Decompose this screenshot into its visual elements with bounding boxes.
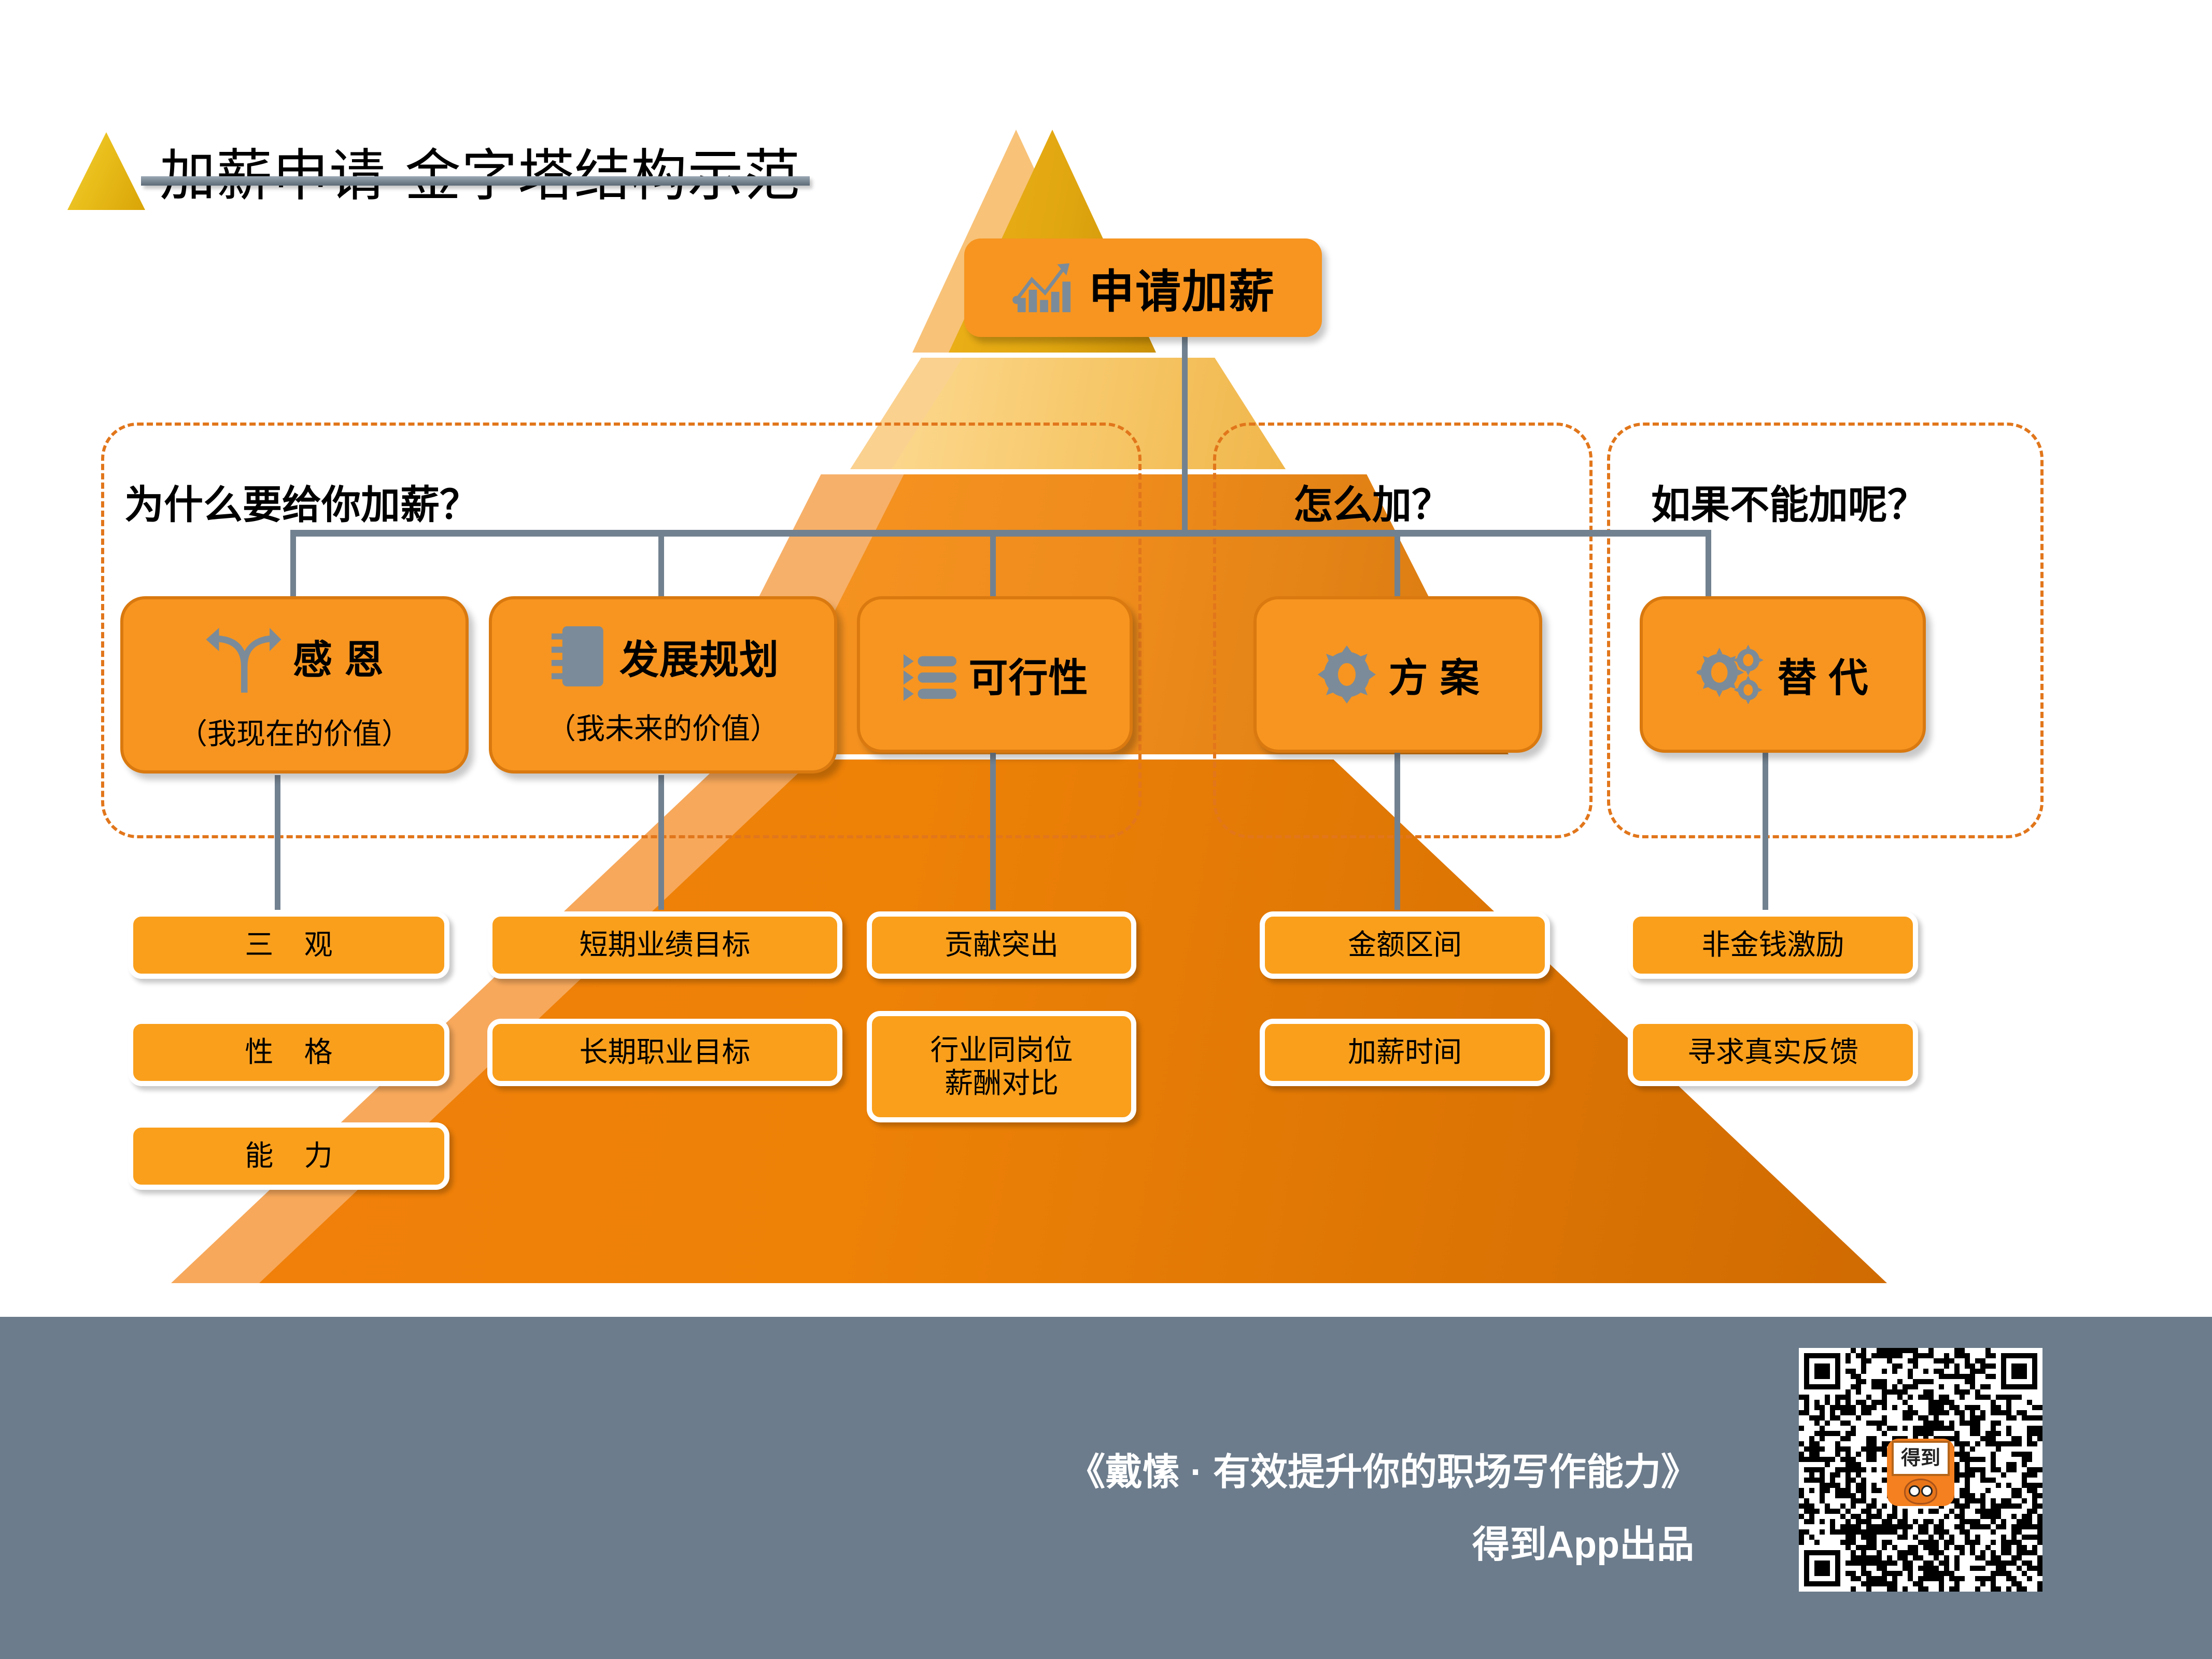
qr-center-logo: 得到 (1887, 1439, 1954, 1506)
leaf-item[interactable]: 三 观 (128, 911, 449, 979)
notebook-icon (547, 623, 609, 690)
connector-leaf-3 (990, 741, 996, 910)
apex-card-label: 申请加薪 (1089, 255, 1275, 321)
connector-horizontal-bus (290, 530, 1711, 537)
leaf-item[interactable]: 贡献突出 (867, 911, 1136, 979)
group-label-how: 怎么加？ (1293, 473, 1451, 530)
gear-icon (1316, 643, 1378, 706)
leaf-item[interactable]: 金额区间 (1260, 911, 1550, 979)
title-underline (141, 176, 810, 186)
connector-drop-1 (290, 530, 296, 602)
connector-apex-vertical (1182, 337, 1188, 533)
leaf-item[interactable]: 短期业绩目标 (487, 911, 842, 979)
apex-card-apply-raise[interactable]: 申请加薪 (964, 238, 1322, 337)
connector-leaf-4 (1394, 741, 1400, 910)
branch-card-proposal[interactable]: 方 案 (1253, 596, 1542, 753)
connector-leaf-2 (658, 775, 664, 910)
branch-title-proposal: 方 案 (1388, 646, 1480, 703)
gold-triangle-icon (67, 132, 145, 210)
group-label-why: 为什么要给你加薪？ (124, 473, 479, 530)
connector-drop-5 (1706, 530, 1711, 602)
footer-course-title: 《戴愫 · 有效提升你的职场写作能力》 (1068, 1441, 1698, 1496)
leaf-item[interactable]: 非金钱激励 (1628, 911, 1918, 979)
branch-title-gratitude: 感 恩 (293, 628, 384, 685)
three-gears-icon (1697, 643, 1767, 706)
leaf-item[interactable]: 能 力 (128, 1122, 449, 1190)
qr-logo-text: 得到 (1892, 1441, 1950, 1476)
owl-icon (1904, 1479, 1937, 1505)
branch-card-gratitude[interactable]: 感 恩 （我现在的价值） (120, 596, 469, 774)
leaf-item[interactable]: 长期职业目标 (487, 1019, 842, 1086)
branch-subtitle-development-plan: （我未来的价值） (547, 706, 779, 748)
growth-chart-icon (1011, 259, 1077, 316)
leaf-item[interactable]: 行业同岗位 薪酬对比 (867, 1011, 1136, 1122)
group-label-alternative: 如果不能加呢？ (1651, 473, 1927, 530)
connector-leaf-5 (1763, 741, 1768, 910)
branch-card-feasibility[interactable]: 可行性 (857, 596, 1133, 753)
connector-drop-2 (658, 530, 664, 602)
branch-title-feasibility: 可行性 (969, 646, 1089, 703)
branch-card-development-plan[interactable]: 发展规划 （我未来的价值） (489, 596, 837, 774)
footer-publisher: 得到App出品 (1472, 1514, 1694, 1568)
branch-title-alternative: 替 代 (1777, 646, 1868, 703)
page-title: 加薪申请-金字塔结构示范 (67, 117, 800, 210)
connector-drop-4 (1394, 530, 1400, 602)
branch-subtitle-gratitude: （我现在的价值） (178, 711, 411, 753)
leaf-item[interactable]: 性 格 (128, 1019, 449, 1086)
slide-root: 加薪申请-金字塔结构示范 申请加薪 为什么要给你加薪？ 怎么加？ 如果不能加呢 (0, 0, 2212, 1659)
branch-title-development-plan: 发展规划 (619, 628, 779, 685)
connector-leaf-1 (275, 775, 280, 910)
branch-card-alternative[interactable]: 替 代 (1640, 596, 1926, 753)
bulleted-list-icon (901, 646, 959, 703)
leaf-item[interactable]: 寻求真实反馈 (1628, 1019, 1918, 1086)
fork-arrows-icon (205, 617, 283, 695)
connector-drop-3 (990, 530, 996, 602)
leaf-item[interactable]: 加薪时间 (1260, 1019, 1550, 1086)
